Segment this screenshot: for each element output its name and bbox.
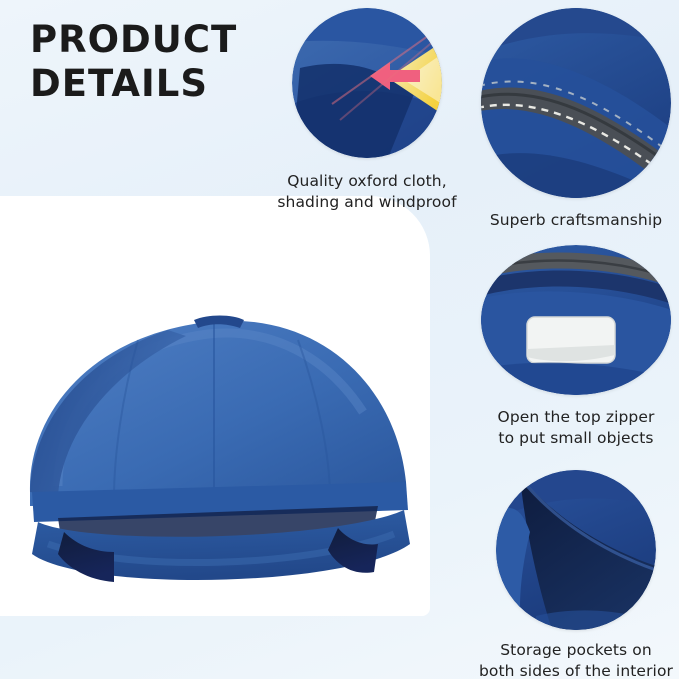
detail-zipper: Open the top zipper to put small objects [476, 245, 676, 449]
detail-craftsmanship-caption: Superb craftsmanship [476, 210, 676, 231]
page-title-line-1: PRODUCT [30, 18, 280, 62]
beach-tent-illustration [18, 296, 418, 586]
product-details-poster: PRODUCT DETAILS [0, 0, 679, 679]
stitching-closeup-icon [481, 8, 671, 198]
detail-pockets: Storage pockets on both sides of the int… [476, 470, 676, 679]
hero-product-image [0, 196, 430, 616]
detail-fabric-caption: Quality oxford cloth, shading and windpr… [262, 171, 472, 213]
detail-zipper-caption: Open the top zipper to put small objects [476, 407, 676, 449]
top-zipper-closeup-icon [481, 245, 671, 395]
interior-pocket-closeup-icon [496, 470, 656, 630]
detail-pockets-caption-line-2: both sides of the interior [476, 661, 676, 679]
detail-craftsmanship-caption-line-1: Superb craftsmanship [476, 210, 676, 231]
detail-fabric-caption-line-1: Quality oxford cloth, [262, 171, 472, 192]
detail-fabric: Quality oxford cloth, shading and windpr… [262, 8, 472, 213]
detail-craftsmanship: Superb craftsmanship [476, 8, 676, 231]
detail-pockets-caption-line-1: Storage pockets on [476, 640, 676, 661]
detail-fabric-caption-line-2: shading and windproof [262, 192, 472, 213]
page-title: PRODUCT DETAILS [30, 18, 280, 105]
page-title-line-2: DETAILS [30, 62, 280, 106]
detail-zipper-caption-line-1: Open the top zipper [476, 407, 676, 428]
fabric-closeup-icon [292, 8, 442, 158]
detail-zipper-caption-line-2: to put small objects [476, 428, 676, 449]
detail-pockets-caption: Storage pockets on both sides of the int… [476, 640, 676, 679]
